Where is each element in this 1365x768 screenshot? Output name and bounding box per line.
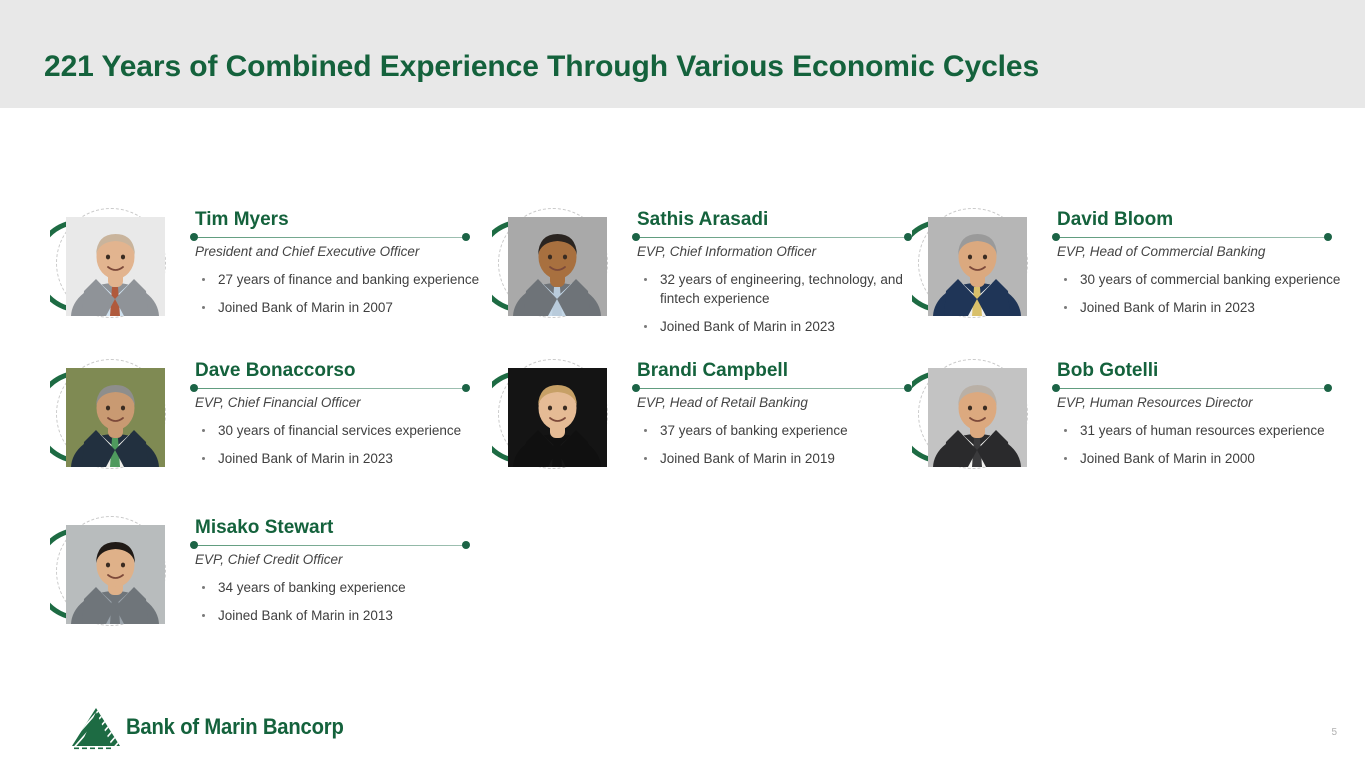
bio-bullet: 30 years of commercial banking experienc… [1052,270,1342,289]
portrait-tim-myers [66,217,165,316]
bio-title: EVP, Chief Information Officer [637,243,922,261]
bio-text: Brandi CampbellEVP, Head of Retail Banki… [632,359,922,477]
portrait-frame [492,208,608,324]
portrait-frame [50,359,166,475]
bio-bullet: Joined Bank of Marin in 2023 [190,449,480,468]
bio-name: Dave Bonaccorso [190,359,480,383]
rule-dot-right [462,233,470,241]
bio-bullets: 27 years of finance and banking experien… [190,270,480,317]
bio-name: Sathis Arasadi [632,208,922,232]
rule-dot-right [904,233,912,241]
page-title: 221 Years of Combined Experience Through… [44,50,1039,84]
bio-rule [632,384,922,393]
bio-bullets: 34 years of banking experienceJoined Ban… [190,578,480,625]
bio-text: Sathis ArasadiEVP, Chief Information Off… [632,208,922,345]
bio-bullet: Joined Bank of Marin in 2019 [632,449,922,468]
bio-bullet: Joined Bank of Marin in 2023 [1052,298,1342,317]
portrait-sathis-arasadi [508,217,607,316]
bio-bullet: Joined Bank of Marin in 2007 [190,298,480,317]
portrait-frame [492,359,608,475]
bio-title: EVP, Human Resources Director [1057,394,1342,412]
portrait-frame [50,208,166,324]
bio-text: David BloomEVP, Head of Commercial Banki… [1052,208,1342,326]
bio-title: EVP, Head of Retail Banking [637,394,922,412]
bio-name: Misako Stewart [190,516,480,540]
portrait-brandi-campbell [508,368,607,467]
bio-bullets: 31 years of human resources experienceJo… [1052,421,1342,468]
rule-dot-right [462,541,470,549]
rule-dot-left [190,233,198,241]
bio-card: David BloomEVP, Head of Commercial Banki… [912,208,1342,363]
bio-card: Bob GotelliEVP, Human Resources Director… [912,359,1342,514]
bio-bullet: Joined Bank of Marin in 2000 [1052,449,1342,468]
rule-dot-left [1052,384,1060,392]
portrait-frame [50,516,166,632]
rule-dot-left [190,541,198,549]
bio-text: Misako StewartEVP, Chief Credit Officer3… [190,516,480,634]
bio-bullet: 37 years of banking experience [632,421,922,440]
bio-text: Bob GotelliEVP, Human Resources Director… [1052,359,1342,477]
bio-title: EVP, Chief Financial Officer [195,394,480,412]
bio-text: Tim MyersPresident and Chief Executive O… [190,208,480,326]
bio-grid: Tim MyersPresident and Chief Executive O… [0,108,1365,668]
header-band: 221 Years of Combined Experience Through… [0,0,1365,108]
bio-bullets: 32 years of engineering, technology, and… [632,270,922,336]
rule-dot-right [904,384,912,392]
rule-dot-left [1052,233,1060,241]
bio-card: Dave BonaccorsoEVP, Chief Financial Offi… [50,359,480,514]
bio-rule [190,233,480,242]
rule-dot-right [1324,384,1332,392]
portrait-dave-bonaccorso [66,368,165,467]
bio-bullet: 31 years of human resources experience [1052,421,1342,440]
bio-card: Misako StewartEVP, Chief Credit Officer3… [50,516,480,671]
rule-dot-left [190,384,198,392]
bio-name: David Bloom [1052,208,1342,232]
rule-dot-right [462,384,470,392]
portrait-bob-gotelli [928,368,1027,467]
bio-bullet: Joined Bank of Marin in 2023 [632,317,922,336]
bio-bullet: Joined Bank of Marin in 2013 [190,606,480,625]
bio-bullet: 34 years of banking experience [190,578,480,597]
bio-name: Tim Myers [190,208,480,232]
portrait-david-bloom [928,217,1027,316]
bio-text: Dave BonaccorsoEVP, Chief Financial Offi… [190,359,480,477]
rule-dot-right [1324,233,1332,241]
bio-card: Brandi CampbellEVP, Head of Retail Banki… [492,359,922,514]
bio-bullet: 27 years of finance and banking experien… [190,270,480,289]
bio-bullet: 30 years of financial services experienc… [190,421,480,440]
page-number: 5 [1331,727,1337,738]
bio-title: President and Chief Executive Officer [195,243,480,261]
bio-rule [190,384,480,393]
bio-rule [190,541,480,550]
bio-rule [1052,233,1342,242]
bio-rule [1052,384,1342,393]
bio-card: Tim MyersPresident and Chief Executive O… [50,208,480,363]
bio-name: Bob Gotelli [1052,359,1342,383]
logo-wordmark: Bank of Marin Bancorp [126,714,344,740]
bio-title: EVP, Head of Commercial Banking [1057,243,1342,261]
bio-name: Brandi Campbell [632,359,922,383]
portrait-frame [912,359,1028,475]
bio-bullet: 32 years of engineering, technology, and… [632,270,922,308]
footer-logo: Bank of Marin Bancorp [66,706,311,752]
mountain-logo-icon [66,737,124,754]
bio-bullets: 37 years of banking experienceJoined Ban… [632,421,922,468]
portrait-frame [912,208,1028,324]
bio-rule [632,233,922,242]
bio-title: EVP, Chief Credit Officer [195,551,480,569]
bio-bullets: 30 years of financial services experienc… [190,421,480,468]
rule-dot-left [632,233,640,241]
bio-card: Sathis ArasadiEVP, Chief Information Off… [492,208,922,363]
portrait-misako-stewart [66,525,165,624]
bio-bullets: 30 years of commercial banking experienc… [1052,270,1342,317]
rule-dot-left [632,384,640,392]
